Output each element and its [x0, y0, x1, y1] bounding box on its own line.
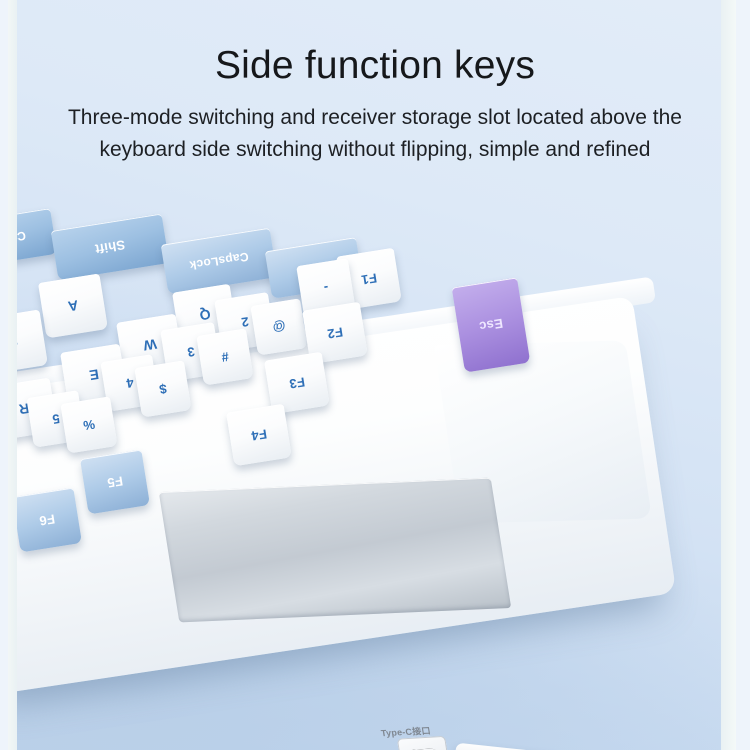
- subtitle-line-1: Three-mode switching and receiver storag…: [18, 104, 732, 131]
- type-c-bezel: [397, 736, 451, 750]
- keycap-legend: F6: [15, 508, 79, 533]
- keycap-f6[interactable]: F6: [12, 487, 82, 552]
- keycap-f5[interactable]: F5: [80, 449, 150, 514]
- page-title: Side function keys: [0, 44, 750, 88]
- keycap-legend: F2: [305, 321, 365, 345]
- keycap-legend: Esc: [457, 312, 525, 337]
- keyboard-scene: CtrlShiftCapsLockTabAQ2@SW3#E4$R5%F1-F2F…: [8, 196, 688, 750]
- keycap-legend: $: [137, 378, 189, 401]
- keycap-legend: F3: [267, 371, 327, 395]
- keycap-[interactable]: $: [134, 360, 191, 417]
- keycap-shift[interactable]: Shift: [51, 214, 169, 281]
- keycap-legend: %: [63, 414, 115, 437]
- keycap-[interactable]: @: [250, 298, 307, 355]
- keycap-legend: -: [299, 277, 353, 300]
- keycap-legend: CapsLock: [164, 245, 275, 276]
- keycap-legend: #: [199, 346, 251, 369]
- keycap-legend: @: [253, 316, 305, 339]
- keycap-legend: A: [41, 293, 105, 319]
- product-marketing-image: CtrlShiftCapsLockTabAQ2@SW3#E4$R5%F1-F2F…: [0, 0, 750, 750]
- keycap-legend: Shift: [54, 231, 167, 263]
- keycap-legend: F4: [229, 423, 289, 447]
- keycap-esc[interactable]: Esc: [452, 277, 531, 372]
- keycap-legend: F5: [83, 470, 147, 495]
- keycap-[interactable]: #: [196, 328, 253, 385]
- left-border-strip: [8, 0, 17, 750]
- side-function-plate: [159, 478, 511, 623]
- usb-c-cable-connector[interactable]: [452, 743, 560, 750]
- keycap-[interactable]: %: [60, 396, 117, 453]
- subtitle-line-2: keyboard side switching without flipping…: [18, 136, 732, 163]
- keycap-a[interactable]: A: [38, 273, 108, 338]
- keycap-f4[interactable]: F4: [226, 404, 292, 466]
